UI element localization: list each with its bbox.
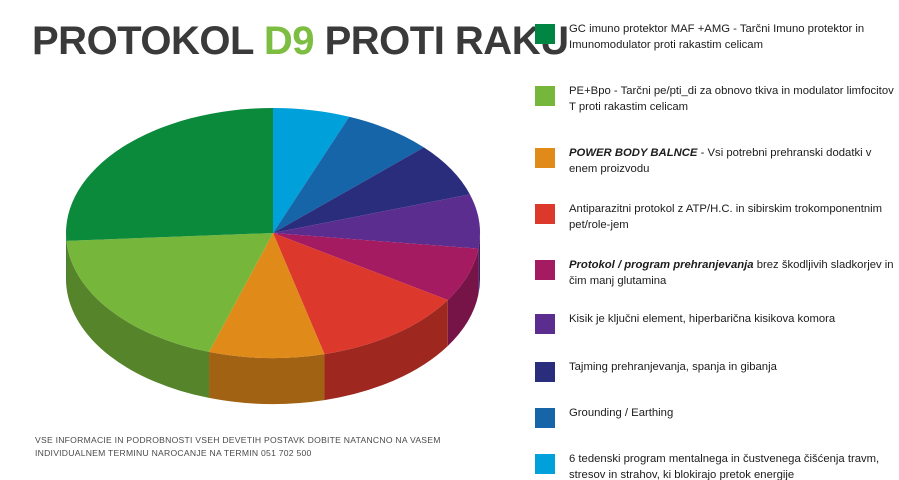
legend-swatch-icon-6 [535, 314, 555, 334]
legend-item-8[interactable]: Grounding / Earthing [535, 406, 895, 428]
legend-item-emphasis-3: POWER BODY BALNCE [569, 147, 697, 159]
legend-item-3[interactable]: POWER BODY BALNCE - Vsi potrebni prehran… [535, 146, 895, 177]
title-accent-d9: D9 [264, 19, 314, 63]
legend-item-6[interactable]: Kisik je ključni element, hiperbarična k… [535, 312, 895, 334]
legend-swatch-icon-3 [535, 148, 555, 168]
footer-line-2: INDIVIDUALNEM TERMINU NAROCANJE NA TERMI… [35, 447, 495, 460]
footer-note: VSE INFORMACIE IN PODROBNOSTI VSEH DEVET… [35, 434, 495, 460]
pie-top-faces [66, 108, 480, 358]
legend-swatch-icon-4 [535, 204, 555, 224]
legend-item-label-7: Tajming prehranjevanja, spanja in gibanj… [569, 360, 777, 376]
protokol-d9-poster: PROTOKOL D9 PROTI RAKU VSE INFORMACIE IN… [0, 0, 899, 480]
pie-slice-9[interactable] [66, 108, 273, 241]
footer-line-1: VSE INFORMACIE IN PODROBNOSTI VSEH DEVET… [35, 434, 495, 447]
legend-item-1[interactable]: GC imuno protektor MAF +AMG - Tarčni Imu… [535, 22, 895, 53]
legend-item-label-3: POWER BODY BALNCE - Vsi potrebni prehran… [569, 146, 895, 177]
legend-swatch-icon-5 [535, 260, 555, 280]
legend-item-5[interactable]: Protokol / program prehranjevanja brez š… [535, 258, 895, 289]
pie-chart-canvas [8, 88, 508, 418]
legend-swatch-icon-8 [535, 408, 555, 428]
legend-item-label-6: Kisik je ključni element, hiperbarična k… [569, 312, 835, 328]
legend-swatch-icon-7 [535, 362, 555, 382]
legend-item-label-8: Grounding / Earthing [569, 406, 673, 422]
legend-item-4[interactable]: Antiparazitni protokol z ATP/H.C. in sib… [535, 202, 895, 233]
legend-item-label-9: 6 tedenski program mentalnega in čustven… [569, 452, 895, 480]
pie-slice-side-7 [209, 352, 324, 404]
legend-item-2[interactable]: PE+Bpo - Tarčni pe/pti_di za obnovo tkiv… [535, 84, 895, 115]
legend-item-emphasis-5: Protokol / program prehranjevanja [569, 259, 754, 271]
legend-swatch-icon-2 [535, 86, 555, 106]
title-part-1: PROTOKOL [32, 19, 264, 63]
legend-item-label-2: PE+Bpo - Tarčni pe/pti_di za obnovo tkiv… [569, 84, 895, 115]
legend-swatch-icon-9 [535, 454, 555, 474]
legend-item-label-5: Protokol / program prehranjevanja brez š… [569, 258, 895, 289]
pie-chart-svg [8, 88, 508, 418]
legend-item-label-1: GC imuno protektor MAF +AMG - Tarčni Imu… [569, 22, 895, 53]
legend-swatch-icon-1 [535, 24, 555, 44]
legend-item-label-4: Antiparazitni protokol z ATP/H.C. in sib… [569, 202, 895, 233]
pie-chart [8, 88, 508, 418]
page-title: PROTOKOL D9 PROTI RAKU [32, 19, 568, 64]
legend-item-7[interactable]: Tajming prehranjevanja, spanja in gibanj… [535, 360, 895, 382]
title-part-2: PROTI RAKU [314, 19, 569, 63]
legend-item-9[interactable]: 6 tedenski program mentalnega in čustven… [535, 452, 895, 480]
